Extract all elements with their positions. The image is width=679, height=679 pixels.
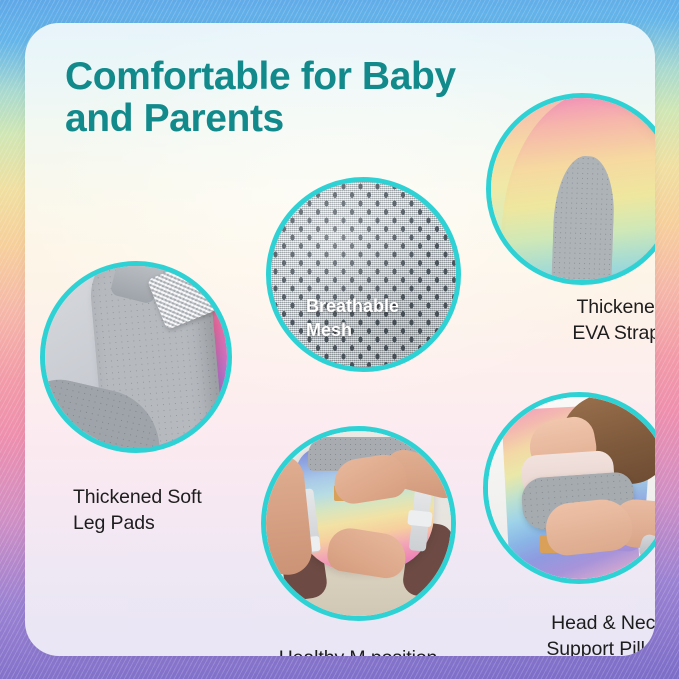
head-neck-pillow-photo: [488, 397, 655, 579]
feature-circle-leg-pads: [40, 261, 232, 453]
feature-circle-breathable-mesh: Breathable Mesh: [266, 177, 461, 372]
feature-circle-head-neck-pillow: [483, 392, 655, 584]
page-title: Comfortable for Baby and Parents: [65, 56, 535, 139]
breathable-mesh-label: Breathable Mesh: [306, 294, 456, 343]
content-card: Comfortable for Baby and Parents Breatha…: [25, 23, 655, 656]
caption-head-neck-pillow: Head & Neck Support Pillow: [523, 611, 655, 656]
product-infographic: Comfortable for Baby and Parents Breatha…: [0, 0, 679, 679]
eva-straps-photo: [491, 98, 655, 280]
leg-pads-photo: [45, 266, 227, 448]
feature-circle-eva-straps: [486, 93, 655, 285]
caption-m-position: Healthy M position: [253, 646, 463, 656]
carrier-buckle-right: [407, 510, 432, 527]
caption-leg-pads: Thickened Soft Leg Pads: [73, 485, 263, 536]
caption-eva-straps: Thickened EVA Straps: [541, 295, 655, 346]
feature-circle-m-position: [261, 426, 456, 621]
m-position-photo: [266, 431, 451, 616]
